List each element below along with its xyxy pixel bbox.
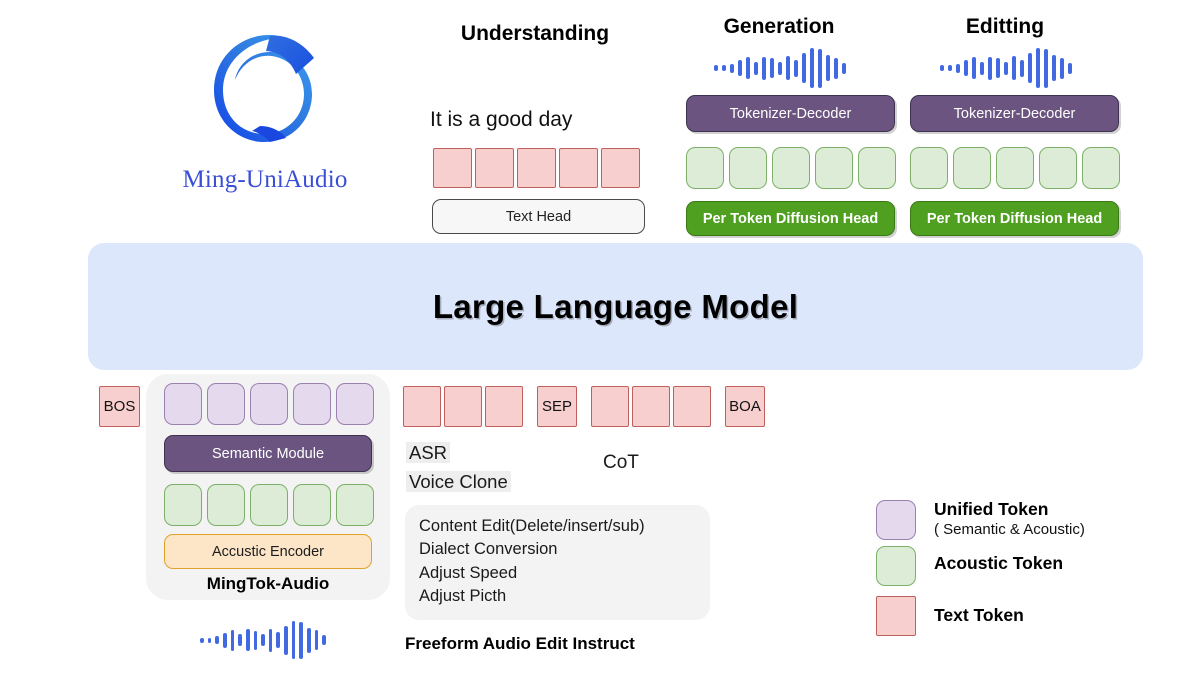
- task-label-voice-clone: Voice Clone: [406, 470, 511, 494]
- legend-label-text: Text Token: [934, 606, 1024, 625]
- accustic-encoder-block[interactable]: Accustic Encoder: [164, 534, 372, 569]
- text-head-button[interactable]: Text Head: [432, 199, 645, 234]
- edit-instruction-item: Dialect Conversion: [419, 538, 696, 561]
- text-token: [673, 386, 711, 427]
- acoustic-token: [293, 484, 331, 526]
- large-language-model-block: Large Language Model: [88, 243, 1143, 370]
- input-token-sequence: SEP BOA: [403, 386, 765, 427]
- cot-label: CoT: [603, 450, 639, 475]
- brand-name: Ming-UniAudio: [170, 166, 360, 194]
- bos-token: BOS: [99, 386, 140, 427]
- input-waveform-icon: [198, 620, 328, 660]
- acoustic-token: [1082, 147, 1120, 189]
- text-token: [485, 386, 523, 427]
- legend-item-text-token: Text Token: [876, 596, 1176, 636]
- task-label-asr-text: ASR: [406, 442, 450, 463]
- acoustic-token: [686, 147, 724, 189]
- editing-acoustic-token-row: [910, 147, 1120, 189]
- text-token: [475, 148, 514, 188]
- acoustic-token: [729, 147, 767, 189]
- unified-token: [207, 383, 245, 425]
- legend-item-acoustic-token: Acoustic Token: [876, 546, 1176, 586]
- legend-swatch-unified: [876, 500, 916, 540]
- edit-instruction-item: Content Edit(Delete/insert/sub): [419, 515, 696, 538]
- unified-token-row: [164, 383, 374, 425]
- editing-tokenizer-decoder[interactable]: Tokenizer-Decoder: [910, 95, 1119, 132]
- text-token: [591, 386, 629, 427]
- acoustic-token: [815, 147, 853, 189]
- text-token: [601, 148, 640, 188]
- legend-sublabel-unified: ( Semantic & Acoustic): [934, 521, 1085, 540]
- acoustic-token: [953, 147, 991, 189]
- editing-diffusion-head[interactable]: Per Token Diffusion Head: [910, 201, 1119, 236]
- boa-token: BOA: [725, 386, 765, 427]
- text-token: [559, 148, 598, 188]
- unified-token: [293, 383, 331, 425]
- freeform-edit-instruct-caption: Freeform Audio Edit Instruct: [405, 634, 635, 654]
- sep-token: SEP: [537, 386, 577, 427]
- acoustic-token: [910, 147, 948, 189]
- edit-instruction-item: Adjust Picth: [419, 585, 696, 608]
- text-token: [632, 386, 670, 427]
- unified-token: [164, 383, 202, 425]
- understanding-text-token-row: [433, 148, 640, 188]
- text-token: [433, 148, 472, 188]
- acoustic-token: [164, 484, 202, 526]
- legend-swatch-acoustic: [876, 546, 916, 586]
- acoustic-token: [336, 484, 374, 526]
- acoustic-token: [250, 484, 288, 526]
- text-token: [444, 386, 482, 427]
- edit-instruction-item: Adjust Speed: [419, 562, 696, 585]
- legend-item-unified-token: Unified Token ( Semantic & Acoustic): [876, 500, 1176, 540]
- acoustic-token: [207, 484, 245, 526]
- editing-waveform-icon: [938, 48, 1074, 88]
- acoustic-token: [858, 147, 896, 189]
- acoustic-token-row: [164, 484, 374, 526]
- legend-label-acoustic: Acoustic Token: [934, 554, 1063, 573]
- column-title-understanding: Understanding: [430, 22, 640, 46]
- acoustic-token: [996, 147, 1034, 189]
- ming-circle-logo-icon: [192, 18, 332, 148]
- acoustic-token: [772, 147, 810, 189]
- generation-diffusion-head[interactable]: Per Token Diffusion Head: [686, 201, 895, 236]
- unified-token: [250, 383, 288, 425]
- generation-tokenizer-decoder[interactable]: Tokenizer-Decoder: [686, 95, 895, 132]
- task-label-voice-clone-text: Voice Clone: [406, 471, 511, 492]
- llm-label: Large Language Model: [433, 288, 798, 326]
- text-token: [517, 148, 556, 188]
- unified-token: [336, 383, 374, 425]
- brand-logo: Ming-UniAudio: [170, 18, 360, 198]
- legend-swatch-text: [876, 596, 916, 636]
- mingtok-audio-panel: Semantic Module Accustic Encoder MingTok…: [146, 374, 390, 600]
- legend: Unified Token ( Semantic & Acoustic) Aco…: [876, 500, 1176, 646]
- semantic-module-block[interactable]: Semantic Module: [164, 435, 372, 472]
- acoustic-token: [1039, 147, 1077, 189]
- legend-label-unified: Unified Token: [934, 500, 1085, 519]
- understanding-sentence: It is a good day: [430, 108, 655, 132]
- freeform-edit-instruct-panel: Content Edit(Delete/insert/sub) Dialect …: [405, 505, 710, 620]
- generation-waveform-icon: [712, 48, 848, 88]
- column-title-editing: Editting: [898, 15, 1112, 39]
- mingtok-audio-label: MingTok-Audio: [146, 574, 390, 594]
- generation-acoustic-token-row: [686, 147, 896, 189]
- text-token: [403, 386, 441, 427]
- task-label-asr: ASR: [406, 441, 450, 465]
- column-title-generation: Generation: [672, 15, 886, 39]
